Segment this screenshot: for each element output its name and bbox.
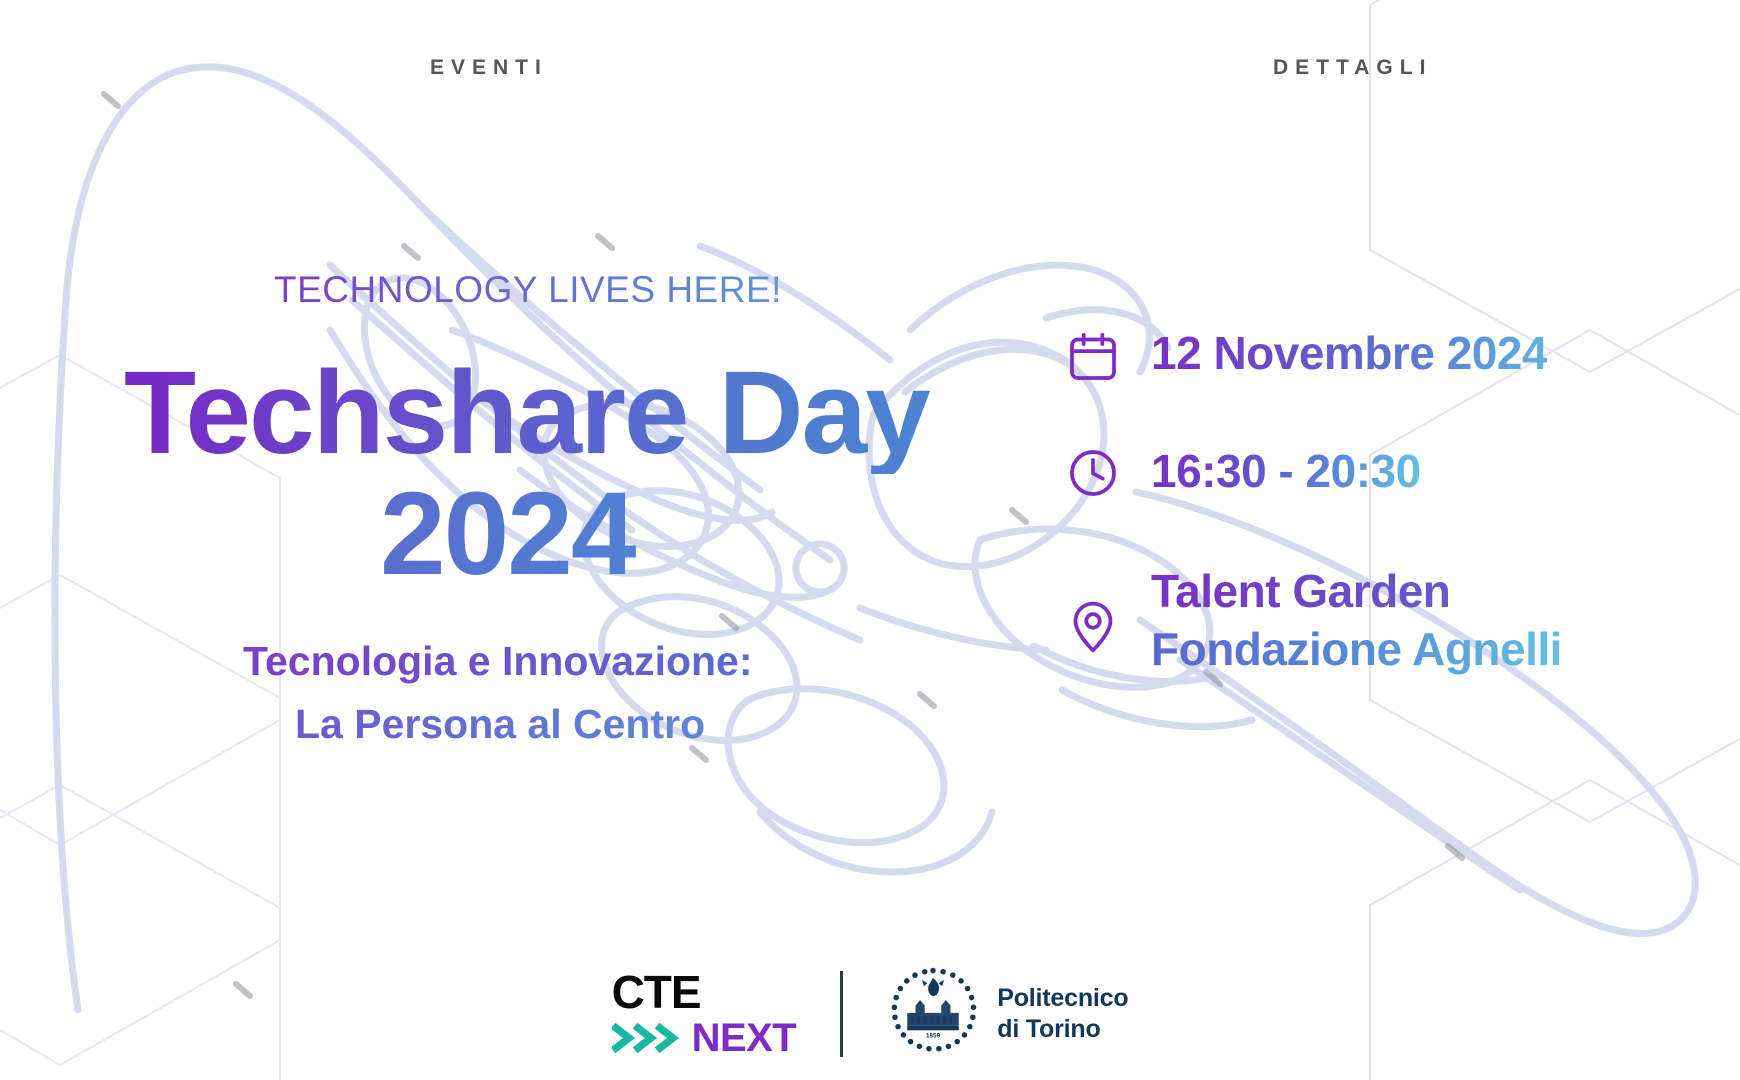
clock-icon	[1065, 443, 1127, 501]
detail-row-date: 12 Novembre 2024	[1065, 325, 1685, 385]
event-subtitle-line-1: Tecnologia e Innovazione:	[243, 630, 960, 694]
event-details-column: 12 Novembre 2024 16:30 - 20:30	[1065, 325, 1685, 678]
footer-divider	[840, 971, 843, 1057]
event-time-value: 16:30 - 20:30	[1151, 443, 1421, 501]
cte-logo-word-next: NEXT	[692, 1018, 797, 1058]
event-venue-line-1: Talent Garden	[1151, 563, 1562, 621]
cte-logo-bottom-row: NEXT	[612, 1018, 797, 1058]
section-label-dettagli: DETTAGLI	[1273, 56, 1432, 80]
politecnico-word-line-2: di Torino	[997, 1014, 1128, 1045]
politecnico-seal-icon: 1859	[887, 965, 979, 1062]
chevrons-icon	[612, 1023, 686, 1053]
calendar-icon	[1065, 325, 1127, 385]
detail-text-time: 16:30 - 20:30	[1127, 443, 1421, 501]
detail-row-time: 16:30 - 20:30	[1065, 443, 1685, 501]
event-venue-line-2: Fondazione Agnelli	[1151, 621, 1562, 679]
event-info-column: TECHNOLOGY LIVES HERE! Techshare Day 202…	[0, 270, 960, 757]
politecnico-seal-year: 1859	[926, 1033, 941, 1040]
event-title: Techshare Day 2024	[0, 353, 960, 596]
detail-text-location: Talent Garden Fondazione Agnelli	[1127, 563, 1562, 678]
cte-logo-word-cte: CTE	[612, 969, 701, 1015]
footer-logos: CTE NEXT	[0, 965, 1740, 1062]
detail-text-date: 12 Novembre 2024	[1127, 325, 1547, 383]
event-poster: EVENTI DETTAGLI TECHNOLOGY LIVES HERE! T…	[0, 0, 1740, 1080]
event-date-value: 12 Novembre 2024	[1151, 325, 1547, 383]
politecnico-di-torino-logo: 1859 Politecnico di Torino	[887, 965, 1128, 1062]
politecnico-word-line-1: Politecnico	[997, 983, 1128, 1014]
event-title-line-2: 2024	[380, 474, 960, 596]
event-subtitle: Tecnologia e Innovazione: La Persona al …	[0, 630, 960, 757]
section-label-eventi: EVENTI	[430, 56, 548, 80]
event-subtitle-line-2: La Persona al Centro	[295, 693, 960, 757]
cte-next-logo: CTE NEXT	[612, 969, 797, 1058]
event-title-line-1: Techshare Day	[124, 353, 960, 475]
event-tagline: TECHNOLOGY LIVES HERE!	[274, 270, 960, 311]
politecnico-wordmark: Politecnico di Torino	[997, 983, 1128, 1044]
detail-row-location: Talent Garden Fondazione Agnelli	[1065, 563, 1685, 678]
location-pin-icon	[1065, 563, 1127, 655]
